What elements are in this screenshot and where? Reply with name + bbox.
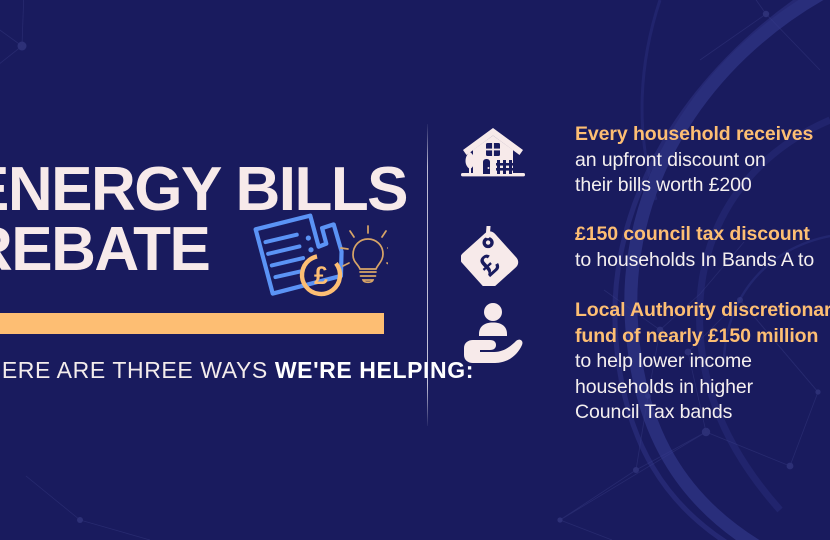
benefit-text-discretionary-fund: Local Authority discretionary fund of ne… <box>531 298 830 426</box>
bill-document-icon <box>255 212 346 295</box>
benefit-body-line: to help lower income <box>575 349 830 375</box>
house-icon <box>461 126 525 182</box>
benefit-text-council-tax-discount: £150 council tax discount to households … <box>531 222 814 273</box>
benefit-headline: £150 council tax discount <box>575 222 814 248</box>
benefit-body-line: Council Tax bands <box>575 400 830 426</box>
benefit-headline-line-2: fund of nearly £150 million <box>575 324 830 350</box>
subheading-normal: THERE ARE THREE WAYS <box>0 357 275 383</box>
benefit-headline: Local Authority discretionary <box>575 298 830 324</box>
price-tag-pound-icon: £ <box>461 226 525 286</box>
bill-and-lightbulb-illustration: £ <box>248 212 388 304</box>
benefit-headline: Every household receives <box>575 122 813 148</box>
benefit-item-household-discount: Every household receives an upfront disc… <box>455 122 813 199</box>
benefit-body-line: to households In Bands A to <box>575 248 814 274</box>
lightbulb-icon <box>341 226 388 282</box>
left-title-panel: ENERGY BILLS REBATE £ <box>0 0 427 540</box>
hand-icon-wrapper <box>455 298 531 364</box>
benefit-item-council-tax-discount: £ £150 council tax discount to household… <box>455 222 814 286</box>
subheading: THERE ARE THREE WAYS WE'RE HELPING: <box>0 357 440 384</box>
vertical-divider <box>427 124 428 426</box>
subheading-strong: WE'RE HELPING: <box>275 357 474 383</box>
benefit-body-line: households in higher <box>575 375 830 401</box>
svg-text:£: £ <box>314 262 328 290</box>
accent-bar <box>0 313 384 334</box>
energy-bills-rebate-graphic: ENERGY BILLS REBATE £ <box>0 0 830 540</box>
house-icon-wrapper <box>455 122 531 182</box>
benefit-text-household-discount: Every household receives an upfront disc… <box>531 122 813 199</box>
benefit-body-line: an upfront discount on <box>575 148 813 174</box>
hand-holding-person-icon <box>460 302 526 364</box>
benefit-item-discretionary-fund: Local Authority discretionary fund of ne… <box>455 298 830 426</box>
price-tag-icon-wrapper: £ <box>455 222 531 286</box>
benefit-body-line: their bills worth £200 <box>575 173 813 199</box>
